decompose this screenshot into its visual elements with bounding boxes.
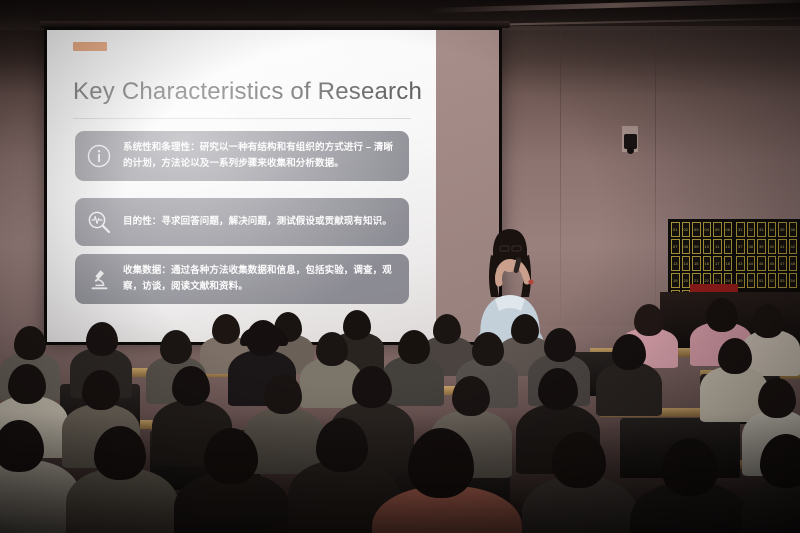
locker-cell: 05 — [713, 222, 722, 237]
locker-cell: 17 — [713, 256, 722, 271]
baseball-cap-icon — [240, 328, 288, 346]
audience-head — [752, 304, 784, 338]
slide-box-text: 目的性：寻求回答问题，解决问题，测试假设或贡献现有知识。 — [123, 214, 409, 230]
locker-cell: 15 — [692, 256, 701, 271]
audience-head — [204, 428, 258, 484]
audience-head — [706, 298, 738, 332]
audience-head — [352, 366, 392, 408]
wall-seam — [655, 30, 656, 320]
locker-cell: 01 — [671, 222, 680, 237]
locker-cell: 41 — [778, 239, 787, 254]
locker-cell: 47 — [778, 256, 787, 271]
locker-cell: 43 — [736, 256, 745, 271]
locker-cell: 40 — [768, 239, 777, 254]
audience-head — [511, 314, 539, 344]
audience-head — [264, 374, 302, 414]
locker-cell: 08 — [682, 239, 691, 254]
audience-head — [612, 334, 646, 370]
audience-head — [14, 326, 46, 360]
slide-box-text: 收集数据：通过各种方法收集数据和信息，包括实验，调查，观察，访谈，阅读文献和资料… — [123, 263, 409, 294]
locker-cell: 14 — [682, 256, 691, 271]
locker-cell: 37 — [736, 239, 745, 254]
locker-cell: 38 — [747, 239, 756, 254]
microscope-icon — [75, 266, 123, 293]
locker-cell: 16 — [703, 256, 712, 271]
locker-cell: 20 — [682, 273, 691, 288]
locker-cell: 52 — [768, 273, 777, 288]
locker-cell: 11 — [713, 239, 722, 254]
slide-box-text: 系统性和条理性：研究以一种有结构和有组织的方式进行 – 清晰的计划，方法论以及一… — [123, 140, 409, 171]
audience-head — [662, 438, 718, 496]
audience-head — [758, 378, 796, 418]
locker-cell: 36 — [789, 222, 798, 237]
locker-cell: 50 — [747, 273, 756, 288]
audience-head — [452, 376, 490, 416]
locker-cell: 35 — [778, 222, 787, 237]
audience-head — [634, 304, 664, 336]
magnifier-pulse-icon — [75, 209, 123, 236]
audience-head — [86, 322, 118, 356]
audience-head — [718, 338, 752, 374]
locker-cell: 04 — [703, 222, 712, 237]
audience-head — [343, 310, 371, 340]
locker-cell: 31 — [736, 222, 745, 237]
locker-cell: 34 — [768, 222, 777, 237]
audience-head — [544, 328, 576, 362]
audience-head — [472, 332, 504, 366]
locker-cell: 44 — [747, 256, 756, 271]
lecture-hall-photo: Key Characteristics of Research 系统性和条理性：… — [0, 0, 800, 533]
audience-body — [596, 362, 662, 416]
locker-cell: 10 — [703, 239, 712, 254]
audience-head — [433, 314, 461, 344]
locker-cell: 06 — [724, 222, 733, 237]
presentation-slide: Key Characteristics of Research 系统性和条理性：… — [47, 30, 436, 342]
wall-camera-icon — [624, 134, 637, 149]
locker-cell: 42 — [789, 239, 798, 254]
audience-head — [538, 368, 578, 410]
locker-cell: 45 — [757, 256, 766, 271]
locker-cell: 54 — [789, 273, 798, 288]
locker-cell: 12 — [724, 239, 733, 254]
audience-head — [316, 332, 348, 366]
locker-cell: 02 — [682, 222, 691, 237]
audience-head — [8, 364, 46, 404]
slide-title: Key Characteristics of Research — [73, 78, 422, 106]
locker-cell: 53 — [778, 273, 787, 288]
locker-cell: 03 — [692, 222, 701, 237]
audience-head — [82, 370, 120, 410]
locker-cell: 39 — [757, 239, 766, 254]
audience-head — [398, 330, 430, 364]
audience-head — [172, 366, 210, 406]
locker-cell: 33 — [757, 222, 766, 237]
info-circle-icon — [75, 143, 123, 169]
audience-head — [212, 314, 240, 344]
audience-head — [160, 330, 192, 364]
audience — [0, 300, 800, 533]
locker-cell: 32 — [747, 222, 756, 237]
locker-cell: 51 — [757, 273, 766, 288]
locker-cell: 19 — [671, 273, 680, 288]
locker-cell: 09 — [692, 239, 701, 254]
audience-head — [94, 426, 146, 480]
slide-box-purposeful: 目的性：寻求回答问题，解决问题，测试假设或贡献现有知识。 — [75, 198, 409, 246]
locker-cell: 07 — [671, 239, 680, 254]
locker-cell: 13 — [671, 256, 680, 271]
accent-bar — [73, 42, 107, 51]
locker-cell: 48 — [789, 256, 798, 271]
locker-cell: 46 — [768, 256, 777, 271]
slide-box-data-collection: 收集数据：通过各种方法收集数据和信息，包括实验，调查，观察，访谈，阅读文献和资料… — [75, 254, 409, 304]
audience-head — [552, 432, 606, 488]
locker-cell: 18 — [724, 256, 733, 271]
slide-box-systematic: 系统性和条理性：研究以一种有结构和有组织的方式进行 – 清晰的计划，方法论以及一… — [75, 131, 409, 181]
audience-head — [316, 418, 368, 472]
title-divider — [73, 118, 411, 119]
